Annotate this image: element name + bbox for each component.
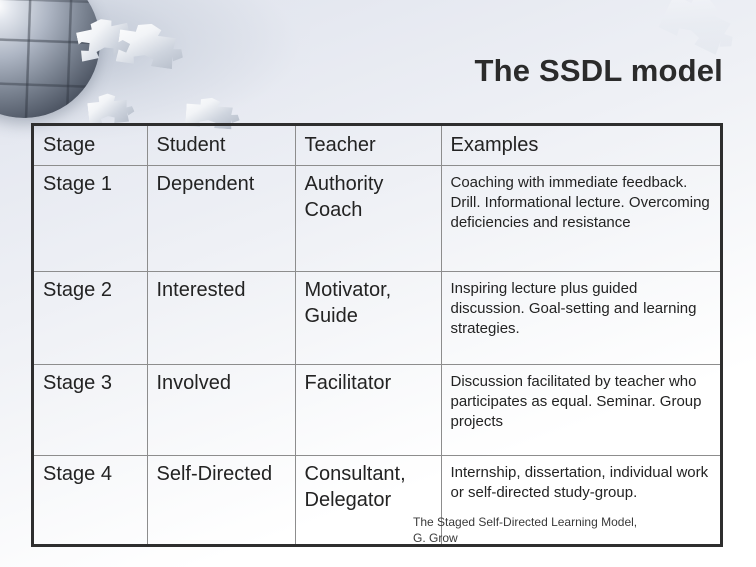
cell-teacher: Facilitator [295,365,441,456]
table-row: Stage 1 Dependent Authority Coach Coachi… [34,166,720,272]
puzzle-artwork-faint [664,0,744,58]
page-title: The SSDL model [474,53,723,89]
source-caption-line2: G. Grow [413,530,733,546]
puzzle-artwork [0,0,380,130]
cell-teacher: Motivator, Guide [295,272,441,365]
cell-examples: Coaching with immediate feedback. Drill.… [441,166,720,272]
cell-stage: Stage 4 [34,456,147,545]
cell-teacher: Authority Coach [295,166,441,272]
table-header-row: Stage Student Teacher Examples [34,126,720,166]
cell-student: Interested [147,272,295,365]
cell-student: Involved [147,365,295,456]
puzzle-sphere-icon [0,0,100,118]
table-row: Stage 2 Interested Motivator, Guide Insp… [34,272,720,365]
column-header-stage: Stage [34,126,147,166]
column-header-teacher: Teacher [295,126,441,166]
cell-examples: Discussion facilitated by teacher who pa… [441,365,720,456]
slide: The SSDL model Stage Student Teacher Exa… [0,0,756,567]
ssdl-table: Stage Student Teacher Examples Stage 1 D… [34,126,720,544]
puzzle-piece-icon [74,10,144,68]
cell-examples: Inspiring lecture plus guided discussion… [441,272,720,365]
source-caption-line1: The Staged Self-Directed Learning Model, [413,514,733,530]
cell-stage: Stage 1 [34,166,147,272]
ssdl-table-container: Stage Student Teacher Examples Stage 1 D… [31,123,723,547]
cell-stage: Stage 2 [34,272,147,365]
puzzle-piece-icon [115,18,187,77]
cell-student: Self-Directed [147,456,295,545]
source-caption: The Staged Self-Directed Learning Model,… [413,514,733,546]
table-row: Stage 3 Involved Facilitator Discussion … [34,365,720,456]
column-header-examples: Examples [441,126,720,166]
column-header-student: Student [147,126,295,166]
cell-student: Dependent [147,166,295,272]
cell-stage: Stage 3 [34,365,147,456]
